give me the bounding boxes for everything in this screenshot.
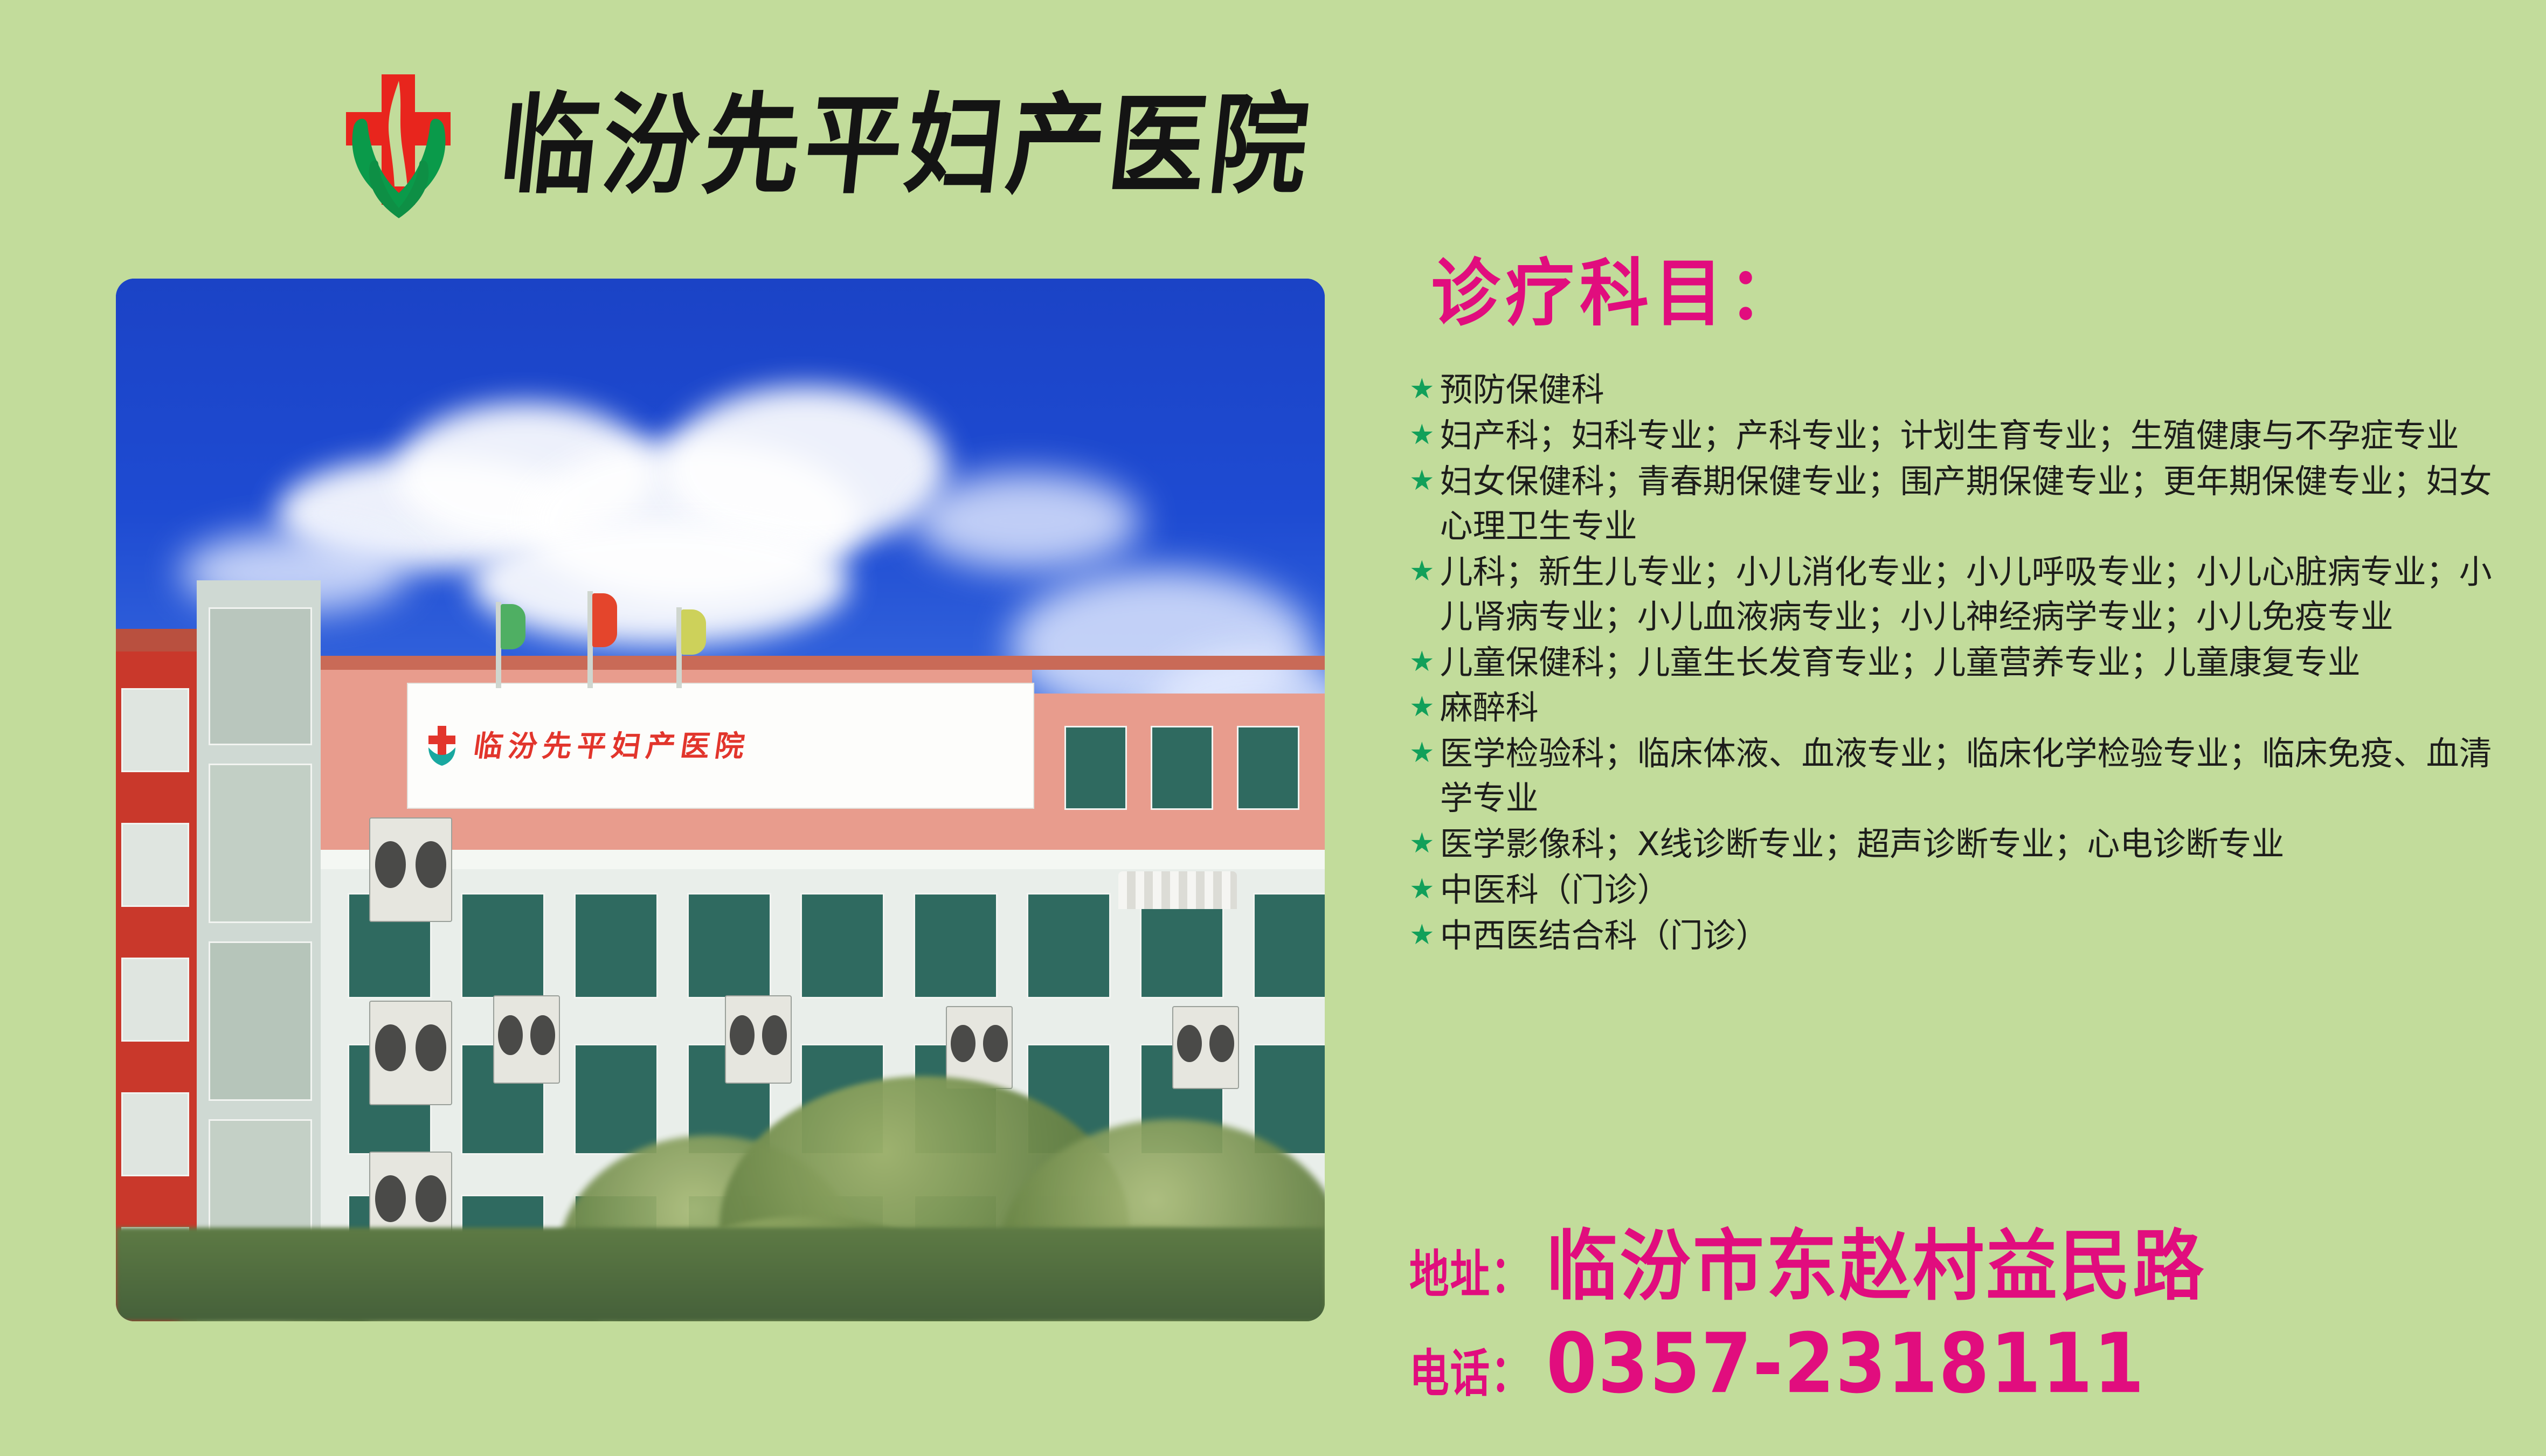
red-cross-with-green-hands-logo-icon — [318, 65, 480, 226]
list-item-label: 医学检验科；临床体液、血液专业；临床化学检验专业；临床免疫、血清学专业 — [1440, 732, 2498, 821]
poster-root: 临汾先平妇产医院 — [0, 0, 2546, 1456]
address-value: 临汾市东赵村益民路 — [1546, 1204, 2206, 1315]
star-icon: ★ — [1409, 550, 1435, 593]
star-icon: ★ — [1409, 460, 1435, 502]
star-icon: ★ — [1409, 914, 1435, 956]
list-item: ★ 中西医结合科（门诊） — [1409, 914, 2498, 959]
hospital-name: 临汾先平妇产医院 — [495, 91, 1317, 200]
list-item: ★ 儿童保健科；儿童生长发育专业；儿童营养专业；儿童康复专业 — [1409, 641, 2498, 685]
brand-header: 临汾先平妇产医院 — [318, 65, 1312, 226]
phone-value: 0357-2318111 — [1546, 1316, 2145, 1412]
list-item-label: 妇产科；妇科专业；产科专业；计划生育专业；生殖健康与不孕症专业 — [1440, 414, 2498, 459]
list-item: ★ 妇产科；妇科专业；产科专业；计划生育专业；生殖健康与不孕症专业 — [1409, 414, 2498, 459]
list-item-label: 医学影像科；X线诊断专业；超声诊断专业；心电诊断专业 — [1440, 822, 2498, 867]
list-item-label: 预防保健科 — [1440, 368, 2498, 413]
list-item: ★ 妇女保健科；青春期保健专业；围产期保健专业；更年期保健专业；妇女心理卫生专业 — [1409, 460, 2498, 549]
list-item-label: 儿科；新生儿专业；小儿消化专业；小儿呼吸专业；小儿心脏病专业；小儿肾病专业；小儿… — [1440, 550, 2498, 640]
list-item-label: 中医科（门诊） — [1440, 868, 2498, 913]
page-title: 诊疗科目： — [1431, 254, 2498, 335]
building-sign: 临汾先平妇产医院 — [407, 683, 1034, 809]
list-item: ★ 中医科（门诊） — [1409, 868, 2498, 913]
star-icon: ★ — [1409, 414, 1435, 456]
list-item-label: 麻醉科 — [1440, 686, 2498, 731]
building-sign-text: 临汾先平妇产医院 — [472, 731, 752, 760]
star-icon: ★ — [1409, 686, 1435, 729]
list-item-label: 中西医结合科（门诊） — [1440, 914, 2498, 959]
star-icon: ★ — [1409, 868, 1435, 911]
departments-panel: 诊疗科目： ★ 预防保健科 ★ 妇产科；妇科专业；产科专业；计划生育专业；生殖健… — [1409, 259, 2498, 960]
list-item: ★ 医学检验科；临床体液、血液专业；临床化学检验专业；临床免疫、血清学专业 — [1409, 732, 2498, 821]
list-item-label: 儿童保健科；儿童生长发育专业；儿童营养专业；儿童康复专业 — [1440, 641, 2498, 685]
list-item: ★ 医学影像科；X线诊断专业；超声诊断专业；心电诊断专业 — [1409, 822, 2498, 867]
star-icon: ★ — [1409, 732, 1435, 774]
phone-row: 电话： 0357-2318111 — [1409, 1323, 2206, 1412]
phone-label: 电话： — [1409, 1333, 1531, 1406]
building-sign-logo-icon — [423, 725, 461, 767]
contact-block: 地址： 临汾市东赵村益民路 电话： 0357-2318111 — [1409, 1212, 2206, 1412]
list-item-label: 妇女保健科；青春期保健专业；围产期保健专业；更年期保健专业；妇女心理卫生专业 — [1440, 460, 2498, 549]
address-label: 地址： — [1409, 1233, 1531, 1307]
list-item: ★ 预防保健科 — [1409, 368, 2498, 413]
list-item: ★ 麻醉科 — [1409, 686, 2498, 731]
hospital-building-photo: 临汾先平妇产医院 — [116, 279, 1325, 1321]
list-item: ★ 儿科；新生儿专业；小儿消化专业；小儿呼吸专业；小儿心脏病专业；小儿肾病专业；… — [1409, 550, 2498, 640]
star-icon: ★ — [1409, 822, 1435, 865]
ground — [116, 1228, 1325, 1321]
departments-list: ★ 预防保健科 ★ 妇产科；妇科专业；产科专业；计划生育专业；生殖健康与不孕症专… — [1409, 368, 2498, 959]
address-row: 地址： 临汾市东赵村益民路 — [1409, 1212, 2206, 1315]
star-icon: ★ — [1409, 368, 1435, 411]
star-icon: ★ — [1409, 641, 1435, 683]
